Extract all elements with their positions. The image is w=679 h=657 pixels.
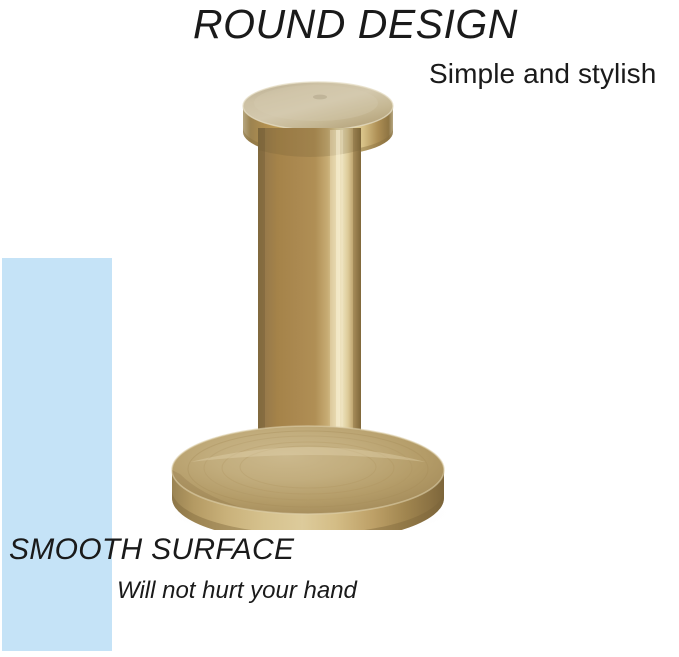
bottom-title: SMOOTH SURFACE <box>9 533 294 566</box>
shaft-body <box>253 128 366 459</box>
brass-wall-hook-image <box>160 70 460 530</box>
bottom-subtitle: Will not hurt your hand <box>117 578 357 604</box>
light-blue-accent-block <box>2 258 112 651</box>
page-title: ROUND DESIGN <box>193 2 518 46</box>
product-infographic-canvas: ROUND DESIGN Simple and stylish <box>0 0 679 657</box>
page-subtitle: Simple and stylish <box>429 58 656 89</box>
